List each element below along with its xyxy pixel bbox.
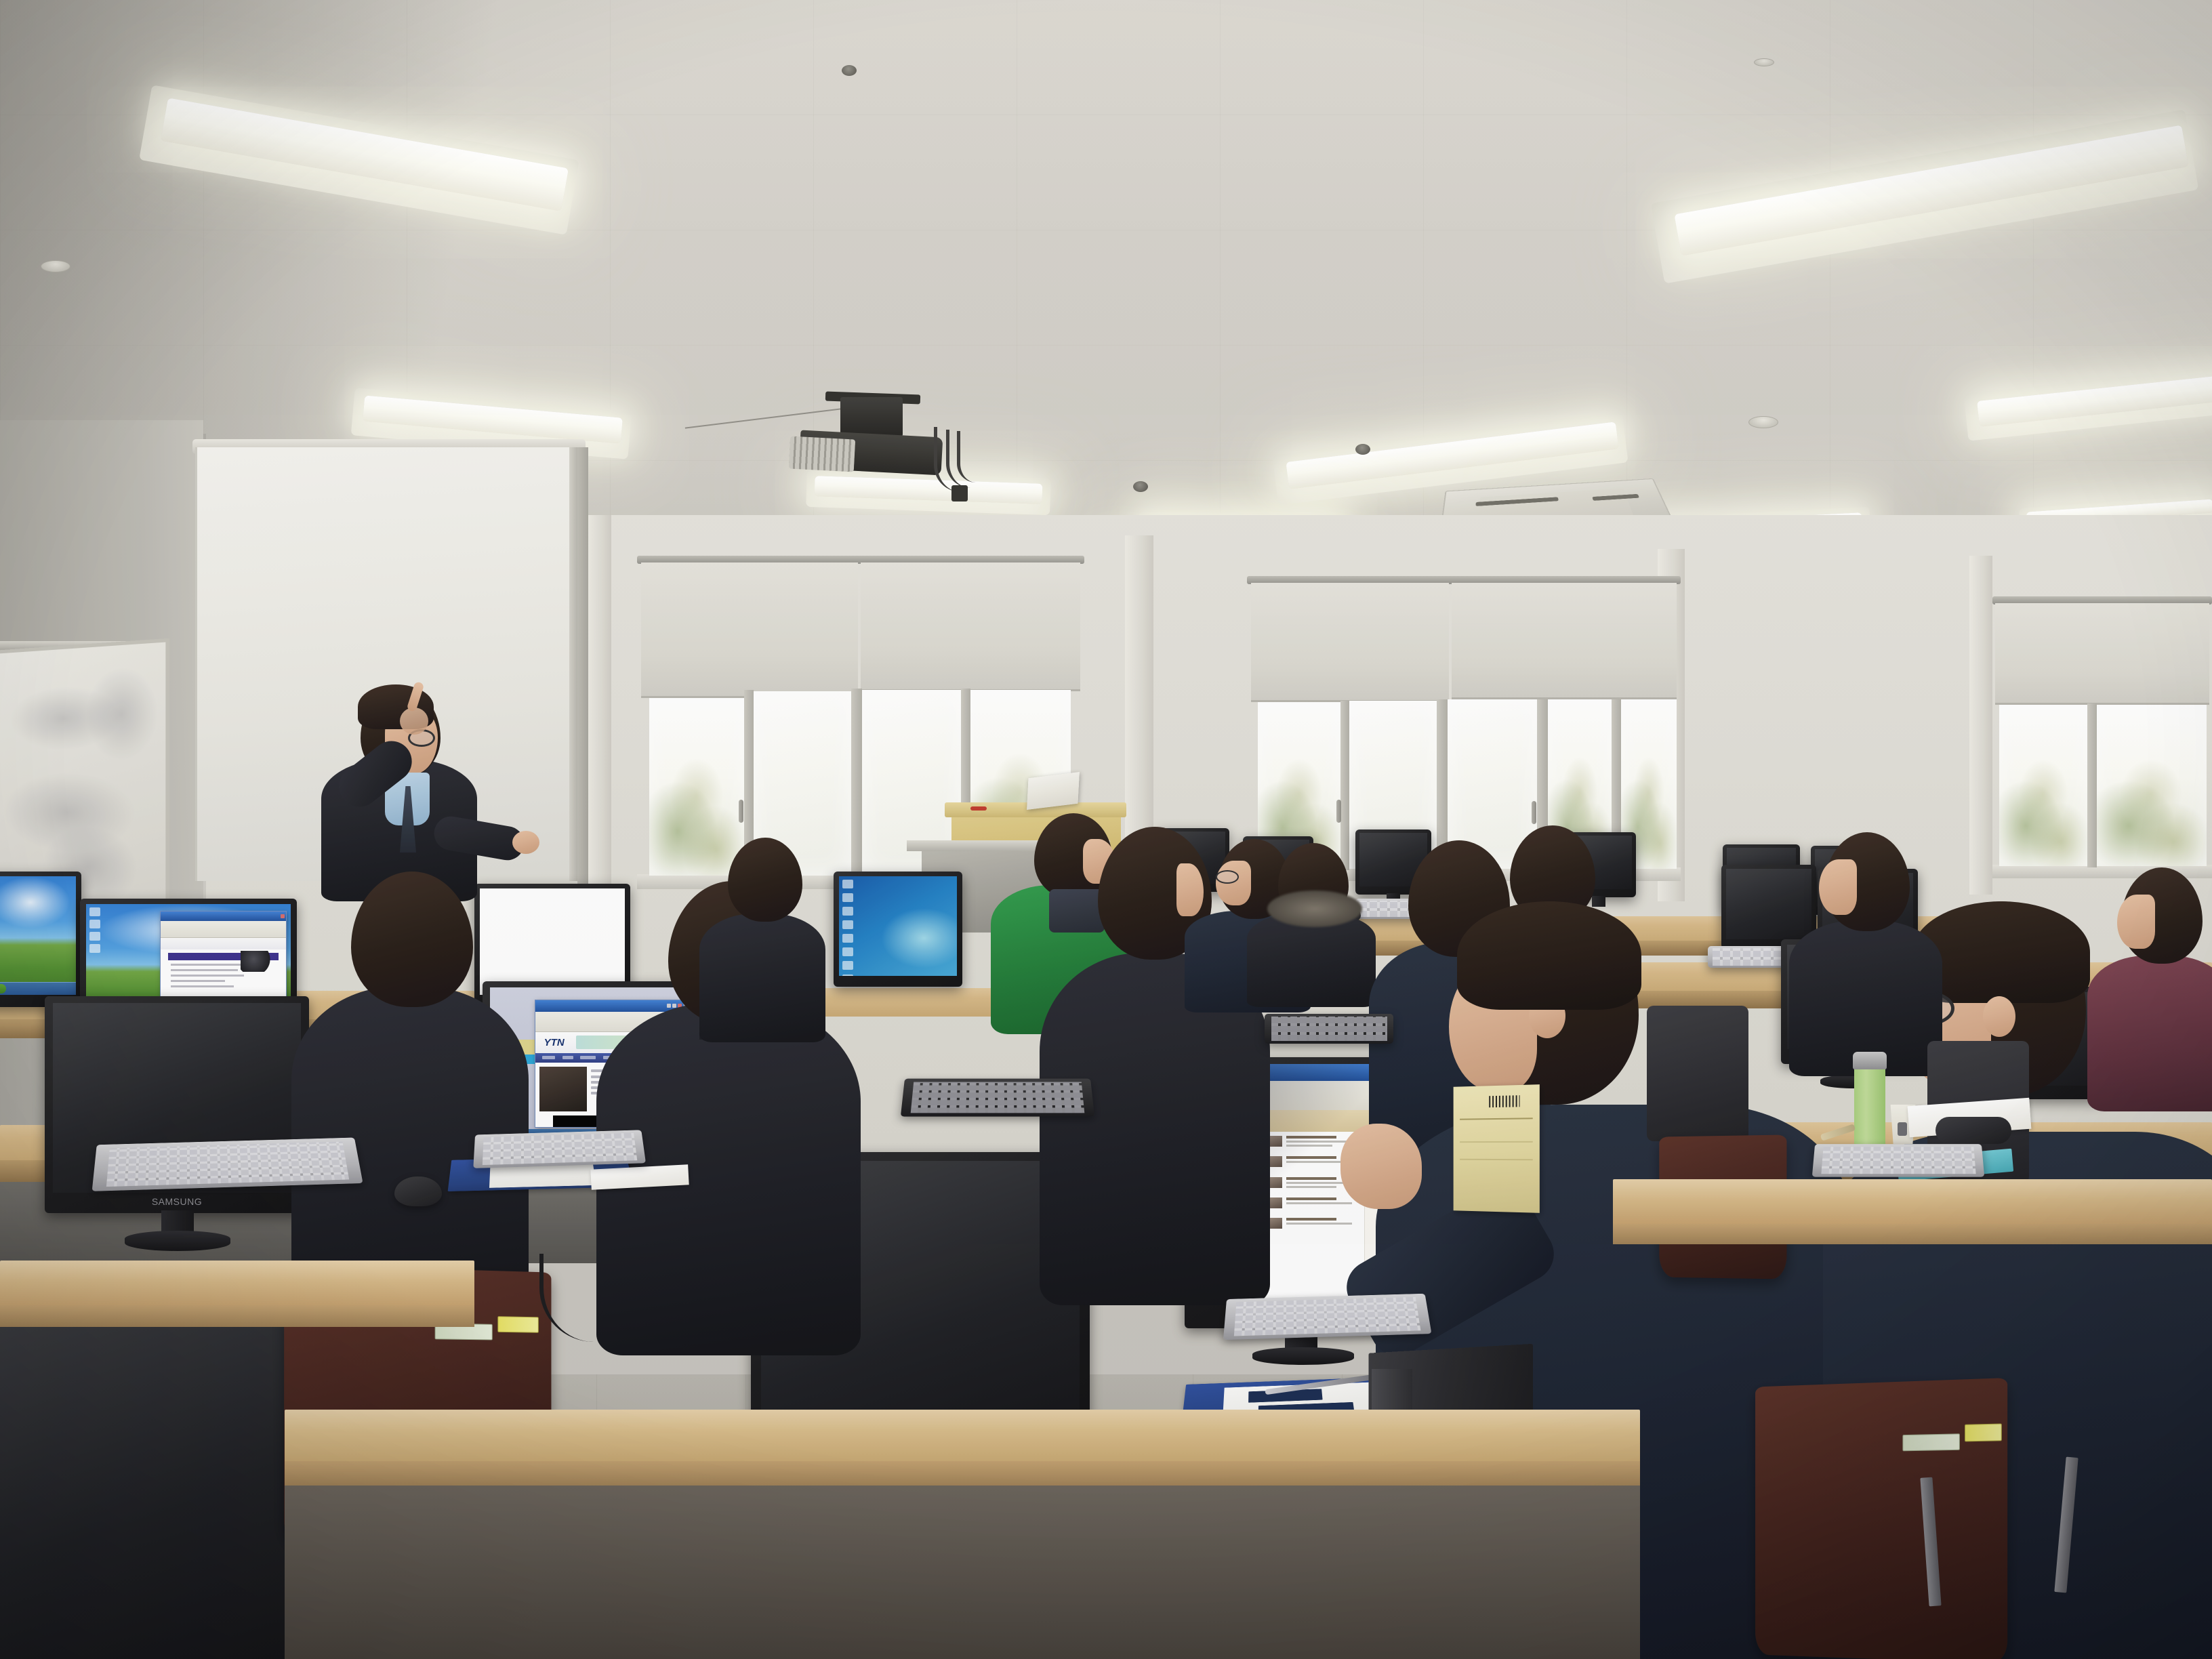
keyboard-right-desk[interactable] (1812, 1144, 1984, 1177)
window-glass-3b (2095, 705, 2207, 866)
desktop-icon[interactable] (89, 944, 100, 953)
keyboard-row2-left[interactable] (92, 1138, 363, 1191)
folder-line (1460, 1141, 1532, 1143)
chair-front-right[interactable] (1755, 1378, 2007, 1659)
wall-column-4 (1969, 556, 1992, 895)
classroom-photo-scene: YTN (0, 0, 2212, 1659)
desk-right-foreground (1613, 1179, 2212, 1227)
window-handle-3[interactable] (1532, 801, 1536, 824)
keyboard-mid-right[interactable] (1265, 1014, 1393, 1044)
window-controls[interactable] (281, 914, 285, 918)
projection-screen-right-edge (569, 447, 577, 881)
sprinkler-icon-2 (1133, 481, 1148, 492)
whiteboard-smudge-4 (86, 665, 158, 761)
chair-asset-sticker-4 (1965, 1424, 2002, 1441)
smoke-detector-icon-3 (1754, 58, 1774, 66)
window-glass-3a (1999, 705, 2087, 866)
desk-right-foreground-edge (1613, 1224, 2212, 1244)
monitor-brand-label: SAMSUNG (45, 1196, 309, 1207)
monitor-foreground-left[interactable] (0, 1274, 298, 1659)
mouse-row2-left[interactable] (394, 1176, 442, 1206)
roller-blind-1[interactable] (641, 562, 858, 698)
roller-blind-3[interactable] (1251, 583, 1449, 702)
close-icon[interactable] (281, 914, 285, 918)
student-torso (2087, 956, 2212, 1111)
keyboard-keys (106, 1142, 348, 1187)
keyboard-keys (911, 1082, 1085, 1113)
keyboard-ytn-desk[interactable] (473, 1130, 646, 1168)
desk-row2-left-surface (0, 1261, 474, 1308)
student-fur-hood (1244, 840, 1380, 989)
xp-start-button[interactable] (0, 984, 6, 994)
ytn-lead-thumbnail[interactable] (539, 1067, 587, 1111)
chair-back-mid[interactable] (1647, 1006, 1748, 1141)
green-thermos[interactable] (1854, 1064, 1885, 1152)
sprinkler-icon-3 (1355, 444, 1370, 455)
xp-wallpaper (0, 876, 76, 995)
roller-blind-5[interactable] (1995, 603, 2209, 705)
ytn-nav-item[interactable] (580, 1056, 596, 1059)
monitor-stand-base (1252, 1347, 1354, 1365)
browser-page-graphic (241, 951, 273, 971)
student-torso (699, 914, 825, 1042)
projection-screen-side-wall (577, 447, 588, 888)
desktop-icons[interactable] (89, 907, 100, 953)
window-handle-1[interactable] (739, 800, 743, 823)
desk-foreground-underside (285, 1486, 1640, 1659)
projector-mount (840, 397, 903, 436)
desktop-icon[interactable] (89, 907, 100, 916)
window-group-3 (1992, 596, 2212, 888)
smoke-detector-icon-2 (1748, 416, 1778, 428)
desk-foreground-edge (285, 1461, 1640, 1488)
monitor-far-left[interactable] (0, 872, 81, 1007)
window-handle-2[interactable] (1336, 800, 1341, 823)
student-hand (1340, 1124, 1422, 1209)
roller-blind-2[interactable] (861, 562, 1080, 691)
wall-column-1 (587, 515, 611, 935)
student-ear (1983, 996, 2015, 1037)
thermos-lid[interactable] (1853, 1052, 1887, 1069)
fur-hood-trim (1267, 890, 1362, 927)
headset-right-desk[interactable] (1935, 1117, 2011, 1144)
student-face (2117, 895, 2155, 949)
keyboard-keys (1821, 1147, 1975, 1174)
window-mullion-3a (2087, 703, 2097, 867)
monitor-screen-off (0, 1284, 287, 1659)
keyboard-keys (482, 1133, 636, 1165)
desktop-icon[interactable] (89, 932, 100, 941)
roller-blind-4[interactable] (1452, 583, 1677, 699)
folder-line (1460, 1118, 1532, 1120)
ytn-logo[interactable]: YTN (544, 1037, 565, 1048)
student-head (351, 872, 473, 1007)
keyboard-blog-desk[interactable] (1223, 1294, 1432, 1340)
projector-wall-socket (951, 485, 968, 501)
desk-row2-left-edge (0, 1305, 474, 1327)
desk-cable-1 (539, 1254, 621, 1342)
chair-asset-sticker-3 (1902, 1433, 1959, 1452)
student-face (1819, 859, 1857, 915)
instructor-left-hand (512, 831, 539, 854)
folder-line (1460, 1159, 1532, 1161)
keyboard-mid-center[interactable] (901, 1079, 1094, 1117)
student-front-left (298, 872, 522, 1319)
window-mullion-1b (851, 689, 862, 877)
monitor-stand-base (125, 1231, 230, 1251)
manila-folder-box[interactable] (1454, 1084, 1540, 1213)
projector-lens-grille (789, 436, 855, 472)
instructor (298, 678, 542, 895)
keyboard-keys (1234, 1297, 1421, 1336)
student-maroon (2094, 867, 2212, 1098)
browser-titlebar[interactable] (161, 912, 286, 921)
paper-cup-logo (1898, 1122, 1907, 1136)
eyeglasses-icon (1216, 870, 1239, 884)
student-back-left (699, 838, 821, 1027)
xp-taskbar[interactable] (0, 982, 76, 995)
student-back-right-dark (1789, 832, 1938, 1063)
browser-toolbar[interactable] (161, 921, 286, 938)
podium-booklet[interactable] (1027, 772, 1080, 810)
student-head (728, 838, 802, 922)
chair-asset-sticker-2 (497, 1316, 538, 1333)
barcode-icon (1489, 1095, 1520, 1107)
student-hair (1457, 901, 1641, 1010)
smoke-detector-icon-1 (41, 260, 70, 272)
instructor-pointing-hand (400, 708, 428, 735)
desktop-icon[interactable] (89, 920, 100, 928)
keyboard-keys (1271, 1017, 1387, 1041)
monitor-screen-xp-1 (0, 876, 76, 995)
sprinkler-icon-1 (842, 65, 857, 76)
ytn-nav-item[interactable] (562, 1056, 574, 1059)
desk-foreground (285, 1410, 1640, 1464)
ytn-nav-item[interactable] (542, 1056, 555, 1059)
